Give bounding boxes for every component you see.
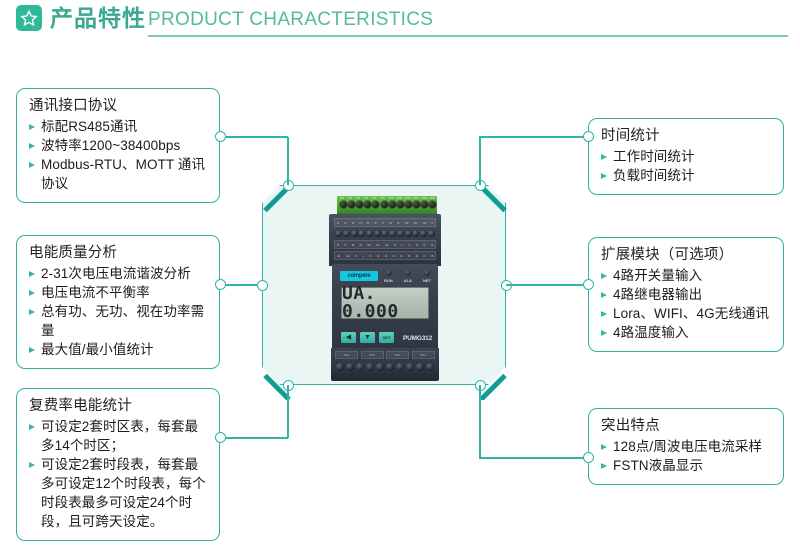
info-bullet-item: 负载时间统计 (601, 166, 773, 185)
info-box-communication: 通讯接口协议 标配RS485通讯波特率1200~38400bpsModbus-R… (16, 88, 220, 203)
terminal-label: I5 (408, 254, 410, 258)
device-upper-terminal-block: I1I2I3I4I5I6I7I8I9I10I11I12P I6I7I8I9I10… (329, 214, 441, 266)
terminal-screw (389, 201, 396, 208)
info-bullet-item: 波特率1200~38400bps (29, 136, 209, 155)
connector-node (215, 432, 226, 443)
terminal-label: +24V (429, 197, 435, 200)
terminal-screw (386, 363, 394, 371)
terminal-label: I8 (390, 221, 392, 225)
terminal-label: I1 (337, 221, 339, 225)
connector-node (583, 452, 594, 463)
terminal-label: L (401, 243, 402, 247)
terminal-label: I3 (352, 221, 354, 225)
terminal-screw (340, 201, 347, 208)
info-box-title: 复费率电能统计 (29, 397, 209, 416)
terminal-label: P (431, 221, 433, 225)
terminal-screw (372, 201, 379, 208)
connector-line (287, 137, 289, 185)
device-led-label: NET (423, 278, 431, 283)
set-key[interactable]: SET (379, 332, 394, 343)
terminal-screw (348, 201, 355, 208)
terminal-screw (346, 363, 354, 371)
terminal-screw (381, 230, 388, 237)
terminal-label: I4 (359, 221, 361, 225)
device-front-face: compere RUNALANET UA. 0.000 ◀▼SET PUMG31… (332, 264, 438, 349)
terminal-label: RS1 (335, 351, 358, 359)
terminal-label: P (394, 243, 396, 247)
info-box-title: 突出特点 (601, 417, 773, 436)
connector-line (479, 385, 481, 458)
terminal-label: I3 (431, 243, 433, 247)
terminal-screw (358, 230, 365, 237)
info-bullet-item: FSTN液晶显示 (601, 456, 773, 475)
terminal-label: L (362, 254, 363, 258)
terminal-screw (426, 363, 434, 371)
terminal-label: I6 (416, 254, 418, 258)
device-led-labels: RUNALANET (384, 278, 431, 283)
panel-corner-accent-top-right (477, 186, 507, 216)
info-box-title: 电能质量分析 (29, 244, 209, 263)
terminal-label: I12 (422, 221, 426, 225)
terminal-label: I10 (405, 221, 409, 225)
connector-node (257, 280, 268, 291)
terminal-label: I7 (423, 254, 425, 258)
panel-corner-accent-top-left (263, 186, 293, 216)
terminal-screw (343, 230, 350, 237)
info-bullet-item: 可设定2套时区表，每套最多14个时区； (29, 417, 209, 455)
device-product-image: DI1DI2DI3DI4DI5DI6DO1DO2DO3DO4COM+24V I1… (329, 196, 441, 381)
terminal-screw (428, 230, 435, 237)
info-box-highlights: 突出特点 128点/周波电压电流采样FSTN液晶显示 (588, 408, 784, 485)
terminal-label: N (369, 254, 371, 258)
info-bullet-item: 最大值/最小值统计 (29, 340, 209, 359)
terminal-screw (413, 201, 420, 208)
info-bullet-item: 标配RS485通讯 (29, 117, 209, 136)
info-box-bullets: 4路开关量输入4路继电器输出Lora、WIFI、4G无线通讯4路温度输入 (601, 266, 773, 342)
info-box-title: 扩展模块（可选项） (601, 246, 773, 265)
terminal-screw (336, 363, 344, 371)
terminal-screw (351, 230, 358, 237)
info-box-bullets: 可设定2套时区表，每套最多14个时区；可设定2套时段表，每套最多可设定12个时段… (29, 417, 209, 531)
info-bullet-item: 总有功、无功、视在功率需量 (29, 302, 209, 340)
connector-line (220, 136, 288, 138)
info-bullet-item: Modbus-RTU、MOTT 通讯协议 (29, 155, 209, 193)
info-box-bullets: 128点/周波电压电流采样FSTN液晶显示 (601, 437, 773, 475)
device-top-green-terminal: DI1DI2DI3DI4DI5DI6DO1DO2DO3DO4COM+24V (337, 196, 437, 215)
terminal-screw (396, 363, 404, 371)
terminal-screw (366, 363, 374, 371)
connector-line (479, 137, 481, 185)
terminal-screw (405, 201, 412, 208)
terminal-label: I9 (397, 221, 399, 225)
info-box-power-quality: 电能质量分析 2-31次电压电流谐波分析电压电流不平衡率总有功、无功、视在功率需… (16, 235, 220, 369)
info-bullet-item: 128点/周波电压电流采样 (601, 437, 773, 456)
device-led-label: ALA (404, 278, 412, 283)
terminal-screw (405, 230, 412, 237)
terminal-screw (421, 201, 428, 208)
terminal-label: RS2 (361, 351, 384, 359)
terminal-screw (381, 201, 388, 208)
terminal-label: DO4 (413, 197, 418, 200)
terminal-label: I8 (352, 243, 354, 247)
device-lower-terminal-block: RS1RS2RS3RS4 (331, 348, 439, 381)
header-divider (148, 35, 788, 37)
terminal-label: DI1 (340, 197, 344, 200)
terminal-screw (420, 230, 427, 237)
terminal-screw (366, 230, 373, 237)
connector-line (506, 284, 588, 286)
down-arrow-key[interactable]: ▼ (360, 332, 375, 343)
terminal-label: I1 (416, 243, 418, 247)
info-bullet-item: 4路继电器输出 (601, 285, 773, 304)
connector-line (479, 136, 588, 138)
terminal-label: I5 (367, 221, 369, 225)
device-lcd-value: UA. 0.000 (342, 285, 428, 321)
terminal-screw (356, 201, 363, 208)
terminal-label: I11 (337, 254, 340, 258)
info-box-title: 通讯接口协议 (29, 97, 209, 116)
connector-node (583, 131, 594, 142)
device-led-label: RUN (384, 278, 393, 283)
info-bullet-item: 2-31次电压电流谐波分析 (29, 264, 209, 283)
device-status-leds (386, 270, 430, 276)
terminal-label: DI5 (372, 197, 376, 200)
connector-line (287, 385, 289, 438)
terminal-label: I10 (367, 243, 371, 247)
terminal-label: I7 (344, 243, 346, 247)
terminal-screw (416, 363, 424, 371)
terminal-label: I3 (392, 254, 394, 258)
connector-node (583, 279, 594, 290)
terminal-label: I12 (346, 254, 350, 258)
terminal-screw (335, 230, 342, 237)
terminal-label: I11 (376, 243, 379, 247)
terminal-label: I2 (344, 221, 346, 225)
info-bullet-item: 4路开关量输入 (601, 266, 773, 285)
info-box-bullets: 标配RS485通讯波特率1200~38400bpsModbus-RTU、MOTT… (29, 117, 209, 193)
info-box-tariff-energy: 复费率电能统计 可设定2套时区表，每套最多14个时区；可设定2套时段表，每套最多… (16, 388, 220, 541)
terminal-label: I6 (374, 221, 376, 225)
left-arrow-key[interactable]: ◀ (341, 332, 356, 343)
terminal-screw (356, 363, 364, 371)
terminal-label: DI6 (381, 197, 385, 200)
terminal-label: DO3 (405, 197, 410, 200)
terminal-label: DO2 (397, 197, 402, 200)
terminal-screw (364, 201, 371, 208)
terminal-label: DO1 (389, 197, 394, 200)
terminal-label: I2 (423, 243, 425, 247)
info-box-bullets: 2-31次电压电流谐波分析电压电流不平衡率总有功、无功、视在功率需量最大值/最小… (29, 264, 209, 359)
device-lcd-display: UA. 0.000 (341, 287, 429, 319)
connector-line (479, 457, 588, 459)
terminal-screw (406, 363, 414, 371)
terminal-label: COM (421, 197, 427, 200)
terminal-screw (376, 363, 384, 371)
connector-node (215, 131, 226, 142)
terminal-label: I7 (382, 221, 384, 225)
device-keypad[interactable]: ◀▼SET (341, 332, 395, 343)
terminal-label: N (408, 243, 410, 247)
terminal-label: I4 (400, 254, 402, 258)
page-title-en: PRODUCT CHARACTERISTICS (148, 8, 433, 32)
terminal-screw (412, 230, 419, 237)
terminal-screw (397, 201, 404, 208)
info-box-title: 时间统计 (601, 127, 773, 146)
info-bullet-item: 4路温度输入 (601, 323, 773, 342)
terminal-label: I9 (360, 243, 362, 247)
connector-line (220, 437, 288, 439)
terminal-screw (374, 230, 381, 237)
terminal-screw (389, 230, 396, 237)
info-box-expansion-module: 扩展模块（可选项） 4路开关量输入4路继电器输出Lora、WIFI、4G无线通讯… (588, 237, 784, 352)
terminal-label: DI4 (364, 197, 368, 200)
terminal-label: P (355, 254, 357, 258)
terminal-label: RS4 (412, 351, 435, 359)
device-brand-logo: compere (340, 271, 378, 281)
info-box-bullets: 工作时间统计负载时间统计 (601, 147, 773, 185)
terminal-screw (397, 230, 404, 237)
terminal-label: DI2 (348, 197, 352, 200)
info-bullet-item: 可设定2套时段表，每套最多可设定12个时段表，每个时段表最多可设定24个时段，且… (29, 455, 209, 531)
page-header: 产品特性 PRODUCT CHARACTERISTICS (0, 0, 800, 42)
terminal-label: RS3 (386, 351, 409, 359)
info-bullet-item: Lora、WIFI、4G无线通讯 (601, 304, 773, 323)
connector-line (220, 284, 257, 286)
terminal-label: I11 (414, 221, 417, 225)
terminal-label: I6 (337, 243, 339, 247)
terminal-screw (429, 201, 436, 208)
info-bullet-item: 电压电流不平衡率 (29, 283, 209, 302)
star-badge-icon (16, 5, 42, 31)
connector-node (215, 279, 226, 290)
device-model-label: PUMG312 (403, 335, 432, 342)
info-bullet-item: 工作时间统计 (601, 147, 773, 166)
page-title-cn: 产品特性 (50, 4, 146, 32)
terminal-label: I12 (385, 243, 389, 247)
terminal-label: I1 (377, 254, 379, 258)
terminal-label: I8 (431, 254, 433, 258)
terminal-label: I2 (385, 254, 387, 258)
info-box-time-statistics: 时间统计 工作时间统计负载时间统计 (588, 118, 784, 195)
terminal-label: DI3 (356, 197, 360, 200)
